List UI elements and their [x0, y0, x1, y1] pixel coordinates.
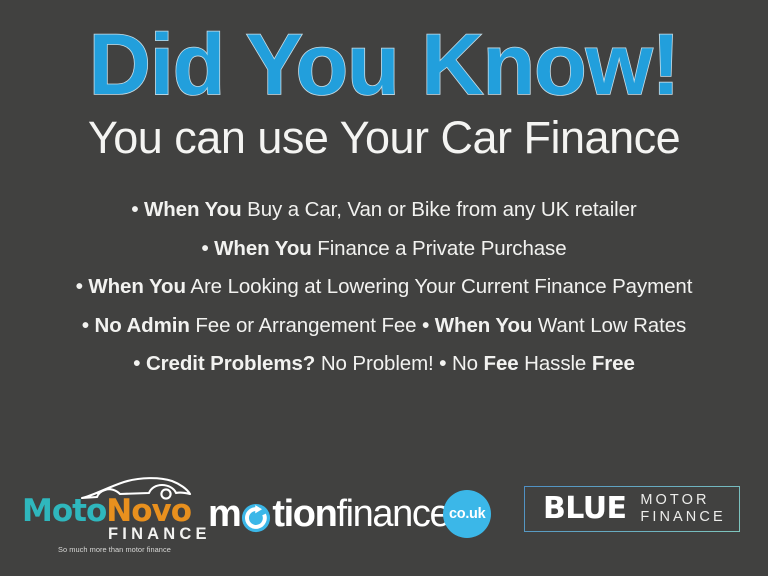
motonovo-novo-text: Novo: [106, 493, 191, 529]
motionfinance-wordmark: m tionfinance: [208, 495, 449, 533]
finance-text: FINANCE: [640, 509, 725, 526]
benefits-list: • When You Buy a Car, Van or Bike from a…: [0, 191, 768, 384]
motonovo-moto-text: Moto: [22, 493, 106, 529]
list-item: • When You Buy a Car, Van or Bike from a…: [131, 191, 636, 230]
motonovo-finance-text: FINANCE: [108, 526, 211, 543]
motonovo-tagline: So much more than motor finance: [58, 546, 171, 553]
motor-finance-stack: MOTOR FINANCE: [640, 492, 725, 526]
page-subtitle: You can use Your Car Finance: [88, 114, 680, 161]
list-item: • When You Finance a Private Purchase: [201, 230, 566, 269]
motonovo-finance-logo: MotoNovo FINANCE So much more than motor…: [14, 476, 204, 550]
motionfinance-finance-text: finance: [336, 495, 449, 533]
blue-motor-finance-logo: BLUE MOTOR FINANCE: [524, 486, 740, 532]
list-item: • When You Are Looking at Lowering Your …: [76, 268, 693, 307]
blue-text: BLUE: [543, 494, 626, 524]
list-item: • Credit Problems? No Problem! • No Fee …: [133, 345, 635, 384]
motionfinance-logo: m tionfinance co.uk: [208, 486, 491, 542]
motionfinance-couk-badge: co.uk: [443, 490, 491, 538]
motonovo-wordmark: MotoNovo: [22, 496, 191, 527]
list-item: • No Admin Fee or Arrangement Fee • When…: [82, 307, 686, 346]
rotating-circle-o-icon: [241, 503, 271, 533]
blue-motor-finance-frame: BLUE MOTOR FINANCE: [524, 486, 740, 532]
promo-banner: Did You Know! You can use Your Car Finan…: [0, 0, 768, 576]
motor-text: MOTOR: [640, 492, 725, 509]
motionfinance-tion-text: tion: [272, 495, 336, 533]
motionfinance-m-text: m: [208, 495, 240, 533]
page-title: Did You Know!: [89, 22, 680, 108]
